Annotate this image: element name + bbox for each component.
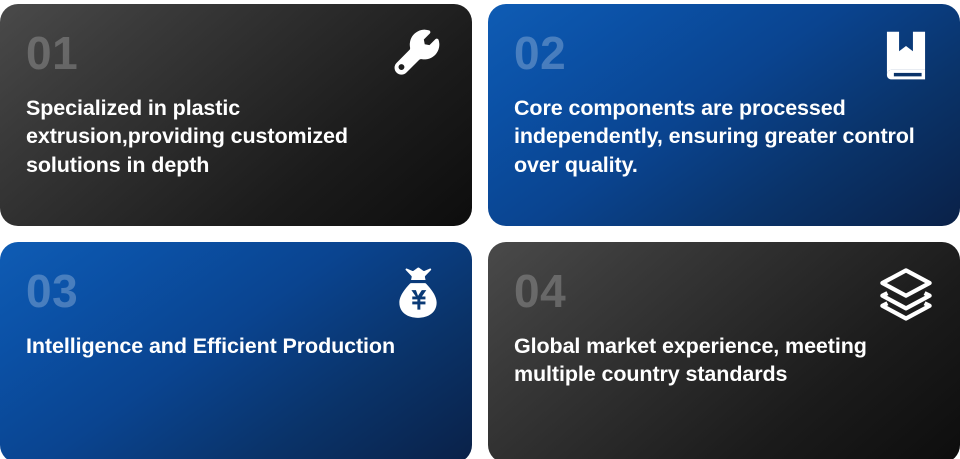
money-bag-yen-icon [390, 266, 446, 322]
card-number: 03 [26, 268, 446, 314]
feature-card-04[interactable]: 04 Global market experience, meeting mul… [488, 242, 960, 459]
book-bookmark-icon [878, 28, 934, 84]
feature-card-02[interactable]: 02 Core components are processed indepen… [488, 4, 960, 226]
layers-stack-icon [878, 266, 934, 322]
feature-card-03[interactable]: 03 Intelligence and Efficient Production [0, 242, 472, 459]
card-title: Intelligence and Efficient Production [26, 332, 429, 360]
card-title: Core components are processed independen… [514, 94, 917, 179]
feature-card-01[interactable]: 01 Specialized in plastic extrusion,prov… [0, 4, 472, 226]
card-number: 02 [514, 30, 934, 76]
wrench-icon [390, 28, 446, 84]
card-title: Specialized in plastic extrusion,providi… [26, 94, 429, 179]
card-title: Global market experience, meeting multip… [514, 332, 917, 389]
feature-card-grid: 01 Specialized in plastic extrusion,prov… [0, 0, 960, 459]
card-number: 04 [514, 268, 934, 314]
card-number: 01 [26, 30, 446, 76]
